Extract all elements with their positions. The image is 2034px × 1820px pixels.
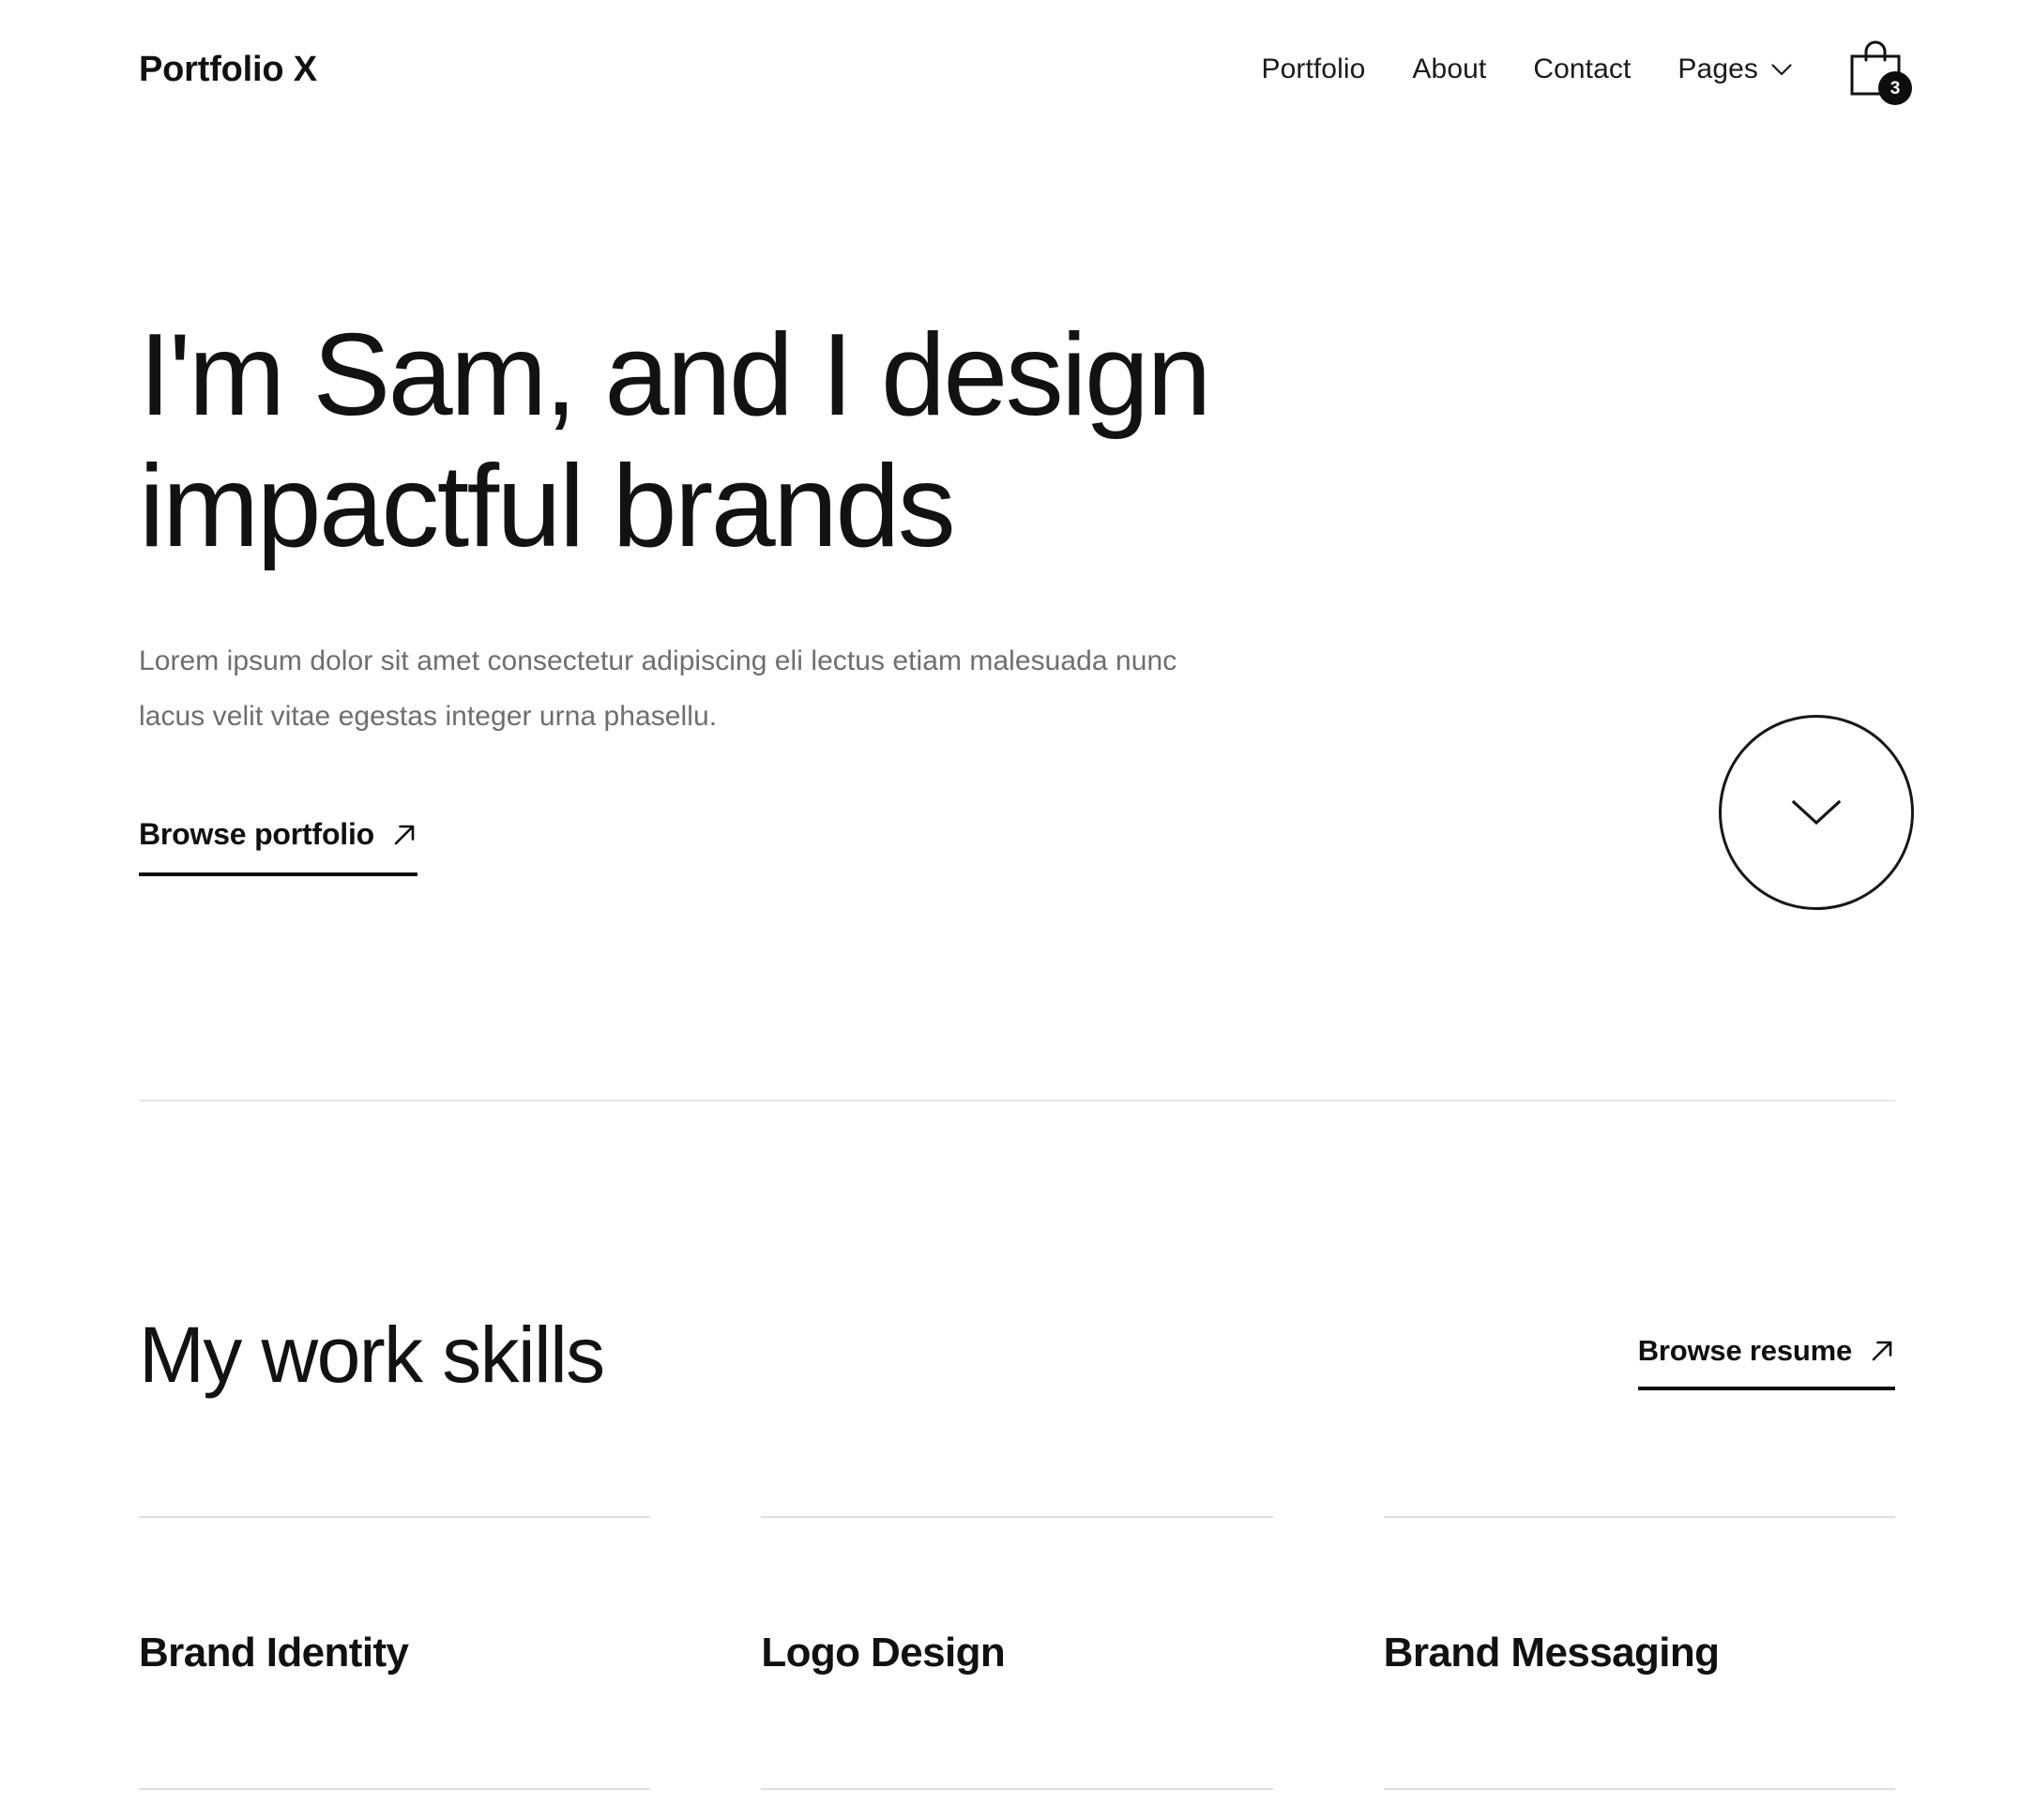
skill-card[interactable]: Brand Identity [139,1516,650,1790]
skill-name: Logo Design [761,1630,1005,1676]
chevron-down-icon [1771,64,1792,76]
portfolio-landing-page: Portfolio X Portfolio About Contact Page… [0,0,2034,1820]
hero-subtitle: Lorem ipsum dolor sit amet consectetur a… [139,634,1218,744]
work-skills-title: My work skills [139,1313,604,1396]
browse-portfolio-container: Browse portfolio [139,817,1895,876]
skill-name: Brand Identity [139,1630,408,1676]
browse-portfolio-link[interactable]: Browse portfolio [139,817,417,876]
nav-item-portfolio[interactable]: Portfolio [1237,53,1389,85]
nav-item-about[interactable]: About [1389,53,1510,85]
work-skills-section: My work skills Browse resume Brand Ident… [139,1313,1895,1435]
work-skills-grid: Brand Identity Logo Design Brand Messagi… [139,1516,1895,1790]
skill-card[interactable]: Brand Messaging [1384,1516,1895,1790]
browse-resume-container: Browse resume [1638,1334,1895,1390]
hero-section-divider [139,1100,1895,1101]
browse-resume-label: Browse resume [1638,1334,1852,1368]
browse-resume-link[interactable]: Browse resume [1638,1334,1895,1390]
work-skills-header: My work skills Browse resume [139,1313,1895,1435]
scroll-down-button[interactable] [1719,715,1914,910]
chevron-down-icon [1790,797,1843,827]
site-header: Portfolio X Portfolio About Contact Page… [0,0,2034,139]
main-navigation: Portfolio About Contact Pages [1237,53,1792,85]
hero-title: I'm Sam, and I design impactful brands [139,310,1546,572]
skill-name: Brand Messaging [1384,1630,1720,1676]
hero-section: I'm Sam, and I design impactful brands L… [139,310,1895,876]
cart-count-badge: 3 [1878,71,1912,105]
browse-portfolio-label: Browse portfolio [139,817,374,852]
cart-button[interactable]: 3 [1848,39,1910,109]
nav-item-pages[interactable]: Pages [1654,53,1792,85]
arrow-up-right-icon [391,822,417,848]
nav-item-pages-label: Pages [1677,53,1758,85]
site-logo[interactable]: Portfolio X [139,52,317,87]
arrow-up-right-icon [1869,1338,1895,1364]
skill-card[interactable]: Logo Design [761,1516,1272,1790]
nav-item-contact[interactable]: Contact [1510,53,1654,85]
